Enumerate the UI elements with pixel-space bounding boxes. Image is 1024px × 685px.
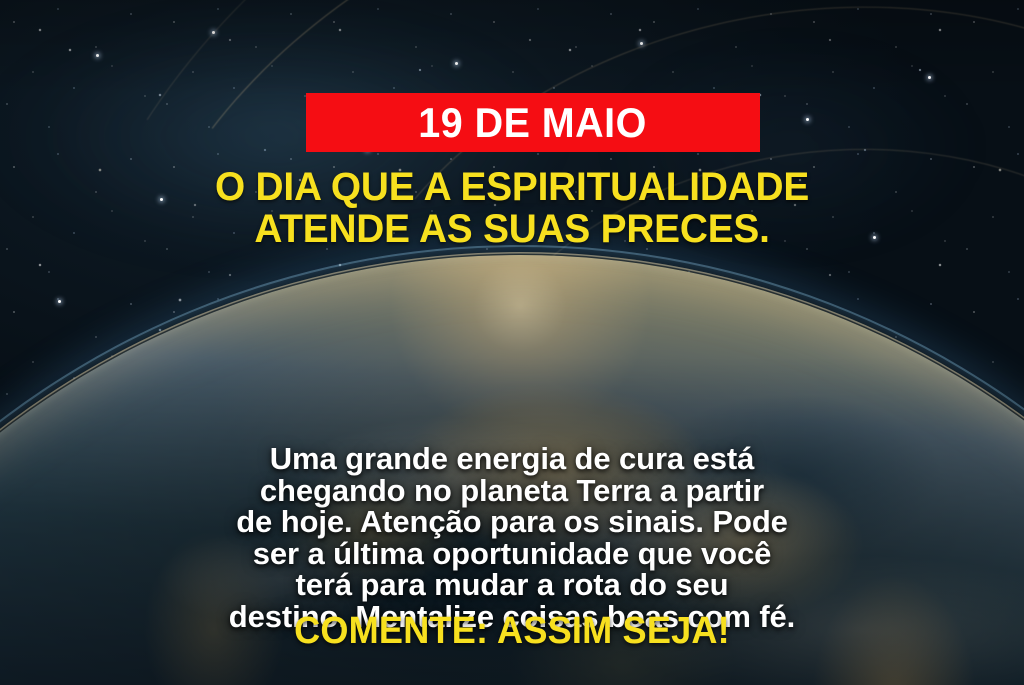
call-to-action-text: COMENTE: ASSIM SEJA! — [26, 611, 999, 651]
body-line-2: chegando no planeta Terra a partir — [0, 475, 1024, 507]
poster-canvas: 19 DE MAIO O DIA QUE A ESPIRITUALIDADE A… — [0, 0, 1024, 685]
body-line-1: Uma grande energia de cura está — [0, 443, 1024, 475]
body-paragraph: Uma grande energia de cura está chegando… — [0, 443, 1024, 632]
body-line-4: ser a última oportunidade que você — [0, 538, 1024, 570]
headline-line-2: ATENDE AS SUAS PRECES. — [15, 208, 1008, 250]
poster-content: 19 DE MAIO O DIA QUE A ESPIRITUALIDADE A… — [0, 0, 1024, 685]
headline: O DIA QUE A ESPIRITUALIDADE ATENDE AS SU… — [15, 166, 1008, 250]
date-banner: 19 DE MAIO — [306, 93, 760, 152]
date-banner-label: 19 DE MAIO — [419, 102, 647, 144]
body-line-5: terá para mudar a rota do seu — [0, 569, 1024, 601]
headline-line-1: O DIA QUE A ESPIRITUALIDADE — [15, 166, 1008, 208]
body-line-3: de hoje. Atenção para os sinais. Pode — [0, 506, 1024, 538]
